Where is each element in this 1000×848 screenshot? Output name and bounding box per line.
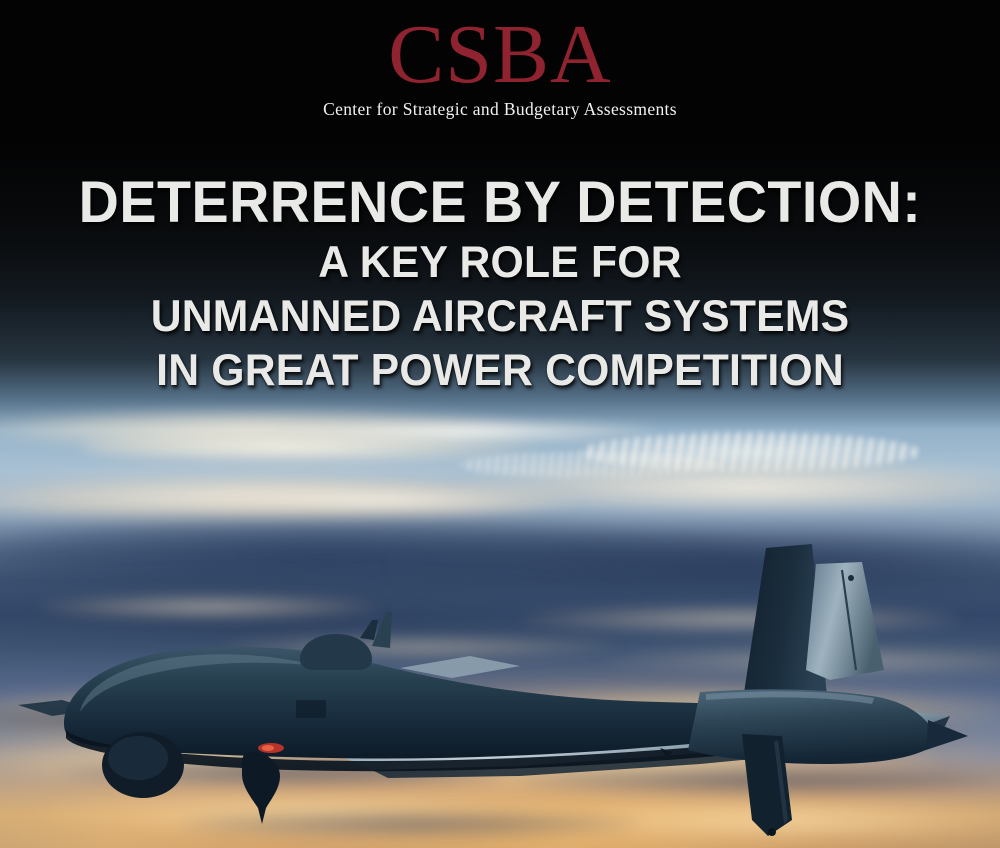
title-line-4: IN GREAT POWER COMPETITION [20, 344, 980, 398]
csba-logo[interactable]: CSBA Center for Strategic and Budgetary … [0, 16, 1000, 120]
csba-wordmark: CSBA [0, 16, 1000, 93]
title-line-3: UNMANNED AIRCRAFT SYSTEMS [20, 290, 980, 344]
title-line-1: DETERRENCE BY DETECTION: [20, 172, 980, 234]
csba-tagline: Center for Strategic and Budgetary Asses… [0, 99, 1000, 120]
report-cover: CSBA Center for Strategic and Budgetary … [0, 0, 1000, 848]
title-line-2: A KEY ROLE FOR [20, 236, 980, 290]
cover-title-block: DETERRENCE BY DETECTION: A KEY ROLE FOR … [0, 172, 1000, 398]
cover-text: CSBA Center for Strategic and Budgetary … [0, 0, 1000, 848]
